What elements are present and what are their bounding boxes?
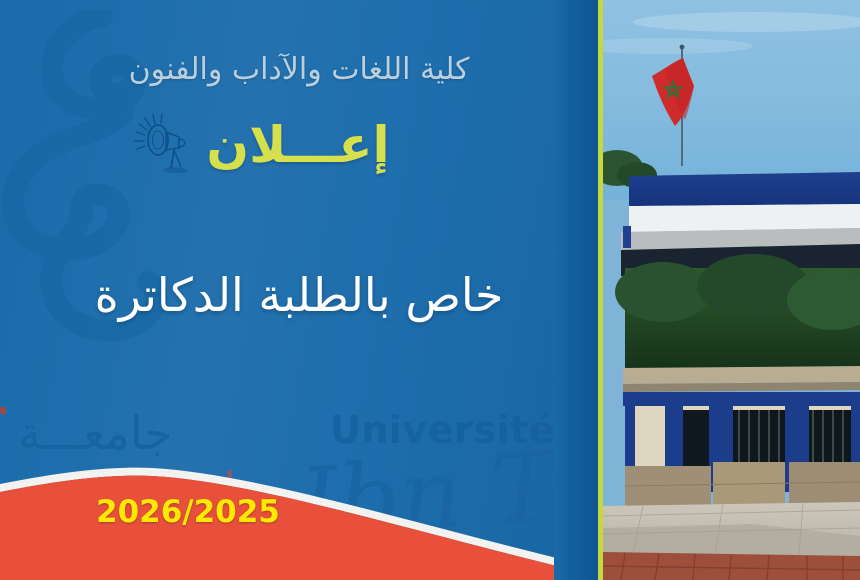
watermark-jamiaa-arabic: جامعـــة bbox=[18, 406, 172, 460]
announcement-poster: كلية اللغات والآداب والفنون إعـــلان bbox=[0, 0, 860, 580]
blue-content-panel: كلية اللغات والآداب والفنون إعـــلان bbox=[0, 0, 598, 580]
panel-right-dark-band bbox=[554, 0, 598, 580]
bottom-orange-wave bbox=[0, 420, 598, 580]
announcement-subject: خاص بالطلبة الدكاترة bbox=[0, 268, 598, 323]
academic-year-label: 2026/2025 bbox=[96, 494, 280, 530]
megaphone-icon bbox=[134, 112, 192, 178]
watermark-universite: Université bbox=[330, 408, 555, 452]
edge-artifact bbox=[0, 407, 6, 414]
announcement-row: إعـــلان bbox=[0, 112, 598, 178]
announcement-label: إعـــلان bbox=[206, 120, 389, 170]
watermark-ibn-tofail-latin: Ibn Tofaïl bbox=[297, 416, 598, 560]
faculty-name: كلية اللغات والآداب والفنون bbox=[0, 52, 598, 89]
campus-photo bbox=[603, 0, 860, 580]
